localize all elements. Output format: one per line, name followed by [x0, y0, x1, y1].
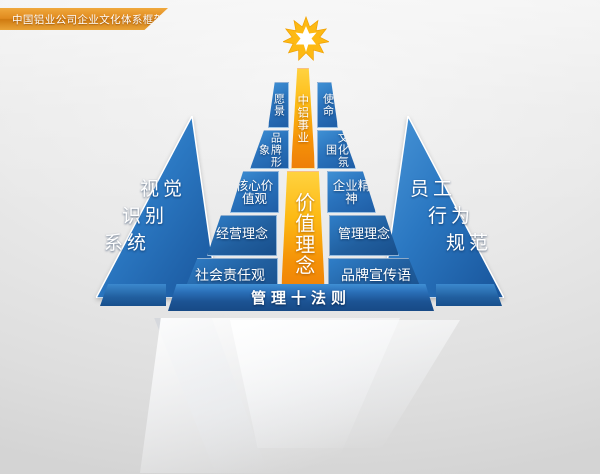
pyramid-reflection-left [140, 318, 400, 473]
brick-management-philosophy[interactable]: 管理理念 [329, 215, 399, 256]
wing-left-line-3: 系统 [104, 228, 150, 255]
brick-chinalco-cause[interactable]: 中铝事业 [291, 68, 315, 169]
brick-vision[interactable]: 愿景 [268, 82, 289, 128]
brick-brand-image[interactable]: 品牌形象 [250, 130, 289, 169]
poster-canvas: 中国铝业公司企业文化体系框架 视觉 识别 系统 [0, 0, 600, 474]
pyramid-shadow [147, 318, 267, 470]
base-bar-label: 管理十法则 [251, 287, 351, 308]
base-bar-ten-rules[interactable]: 管理十法则 [168, 284, 434, 311]
page-title: 中国铝业公司企业文化体系框架 [12, 12, 165, 27]
core-pyramid: 愿景 中铝事业 使命 品牌形象 文化氛围 价值理念 核心价值观 企业精神 经营理… [168, 58, 434, 306]
brick-value-concept[interactable]: 价值理念 [281, 171, 325, 296]
brick-business-philosophy[interactable]: 经营理念 [207, 215, 277, 256]
wing-right-line-3: 规范 [446, 228, 492, 255]
base-cap-left [100, 284, 166, 306]
starburst-icon [283, 16, 329, 62]
pyramid-reflection-center [230, 320, 460, 448]
base-cap-right [436, 284, 502, 306]
brick-enterprise-spirit[interactable]: 企业精神 [327, 171, 376, 213]
title-ribbon: 中国铝业公司企业文化体系框架 [0, 8, 168, 30]
wing-left-line-2: 识别 [122, 201, 168, 228]
brick-core-values[interactable]: 核心价值观 [230, 171, 279, 213]
brick-culture-atmosphere[interactable]: 文化氛围 [317, 130, 356, 169]
wing-right-line-2: 行为 [428, 201, 474, 228]
brick-mission[interactable]: 使命 [317, 82, 338, 128]
